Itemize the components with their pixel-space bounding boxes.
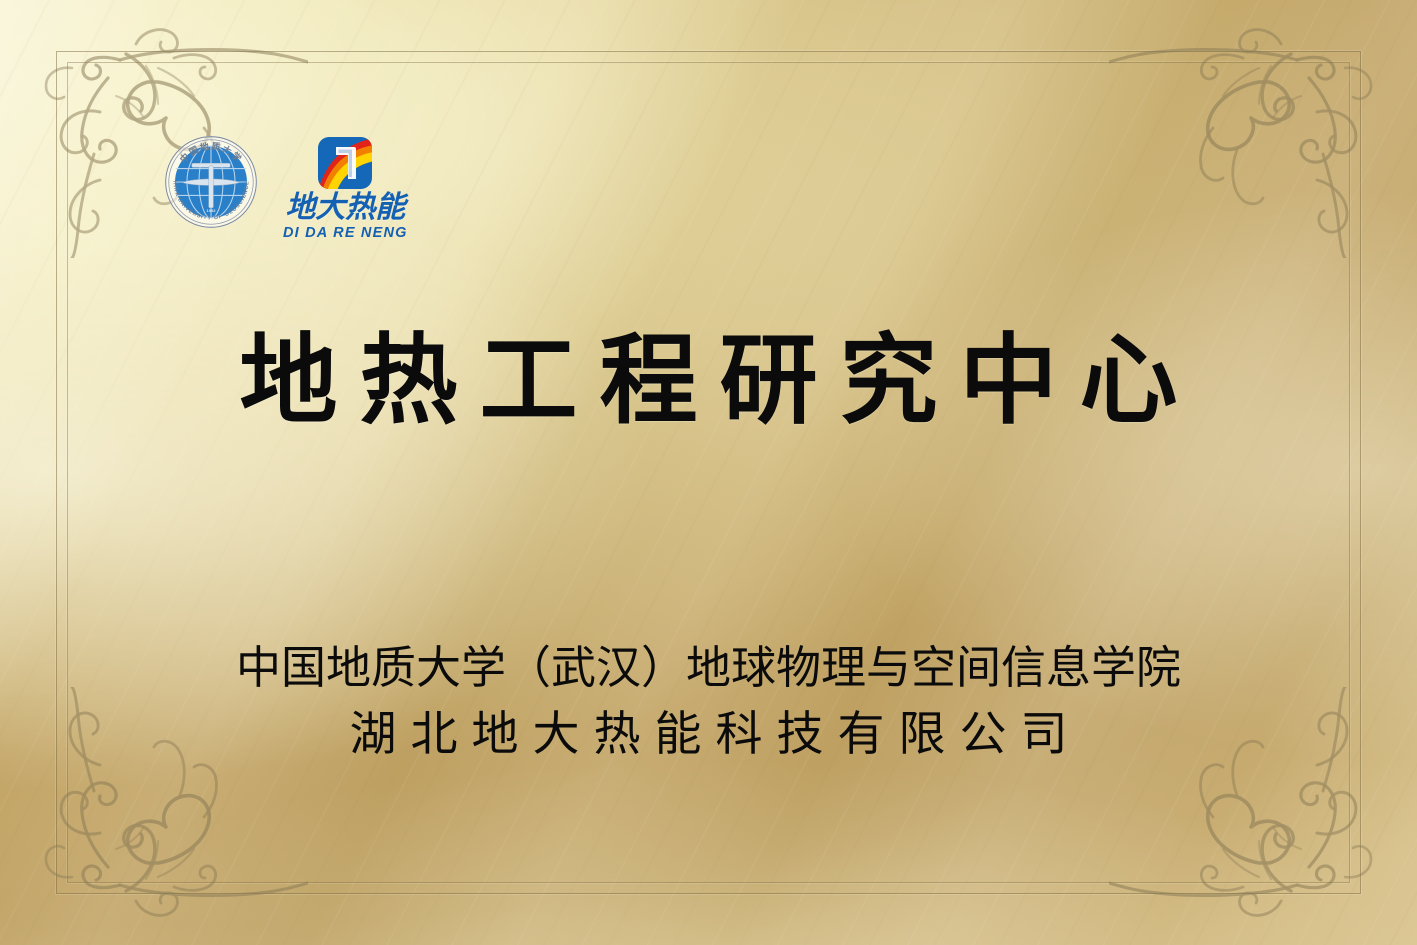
organization-block: 中国地质大学（武汉）地球物理与空间信息学院 湖北地大热能科技有限公司 xyxy=(0,636,1417,769)
organization-line-university: 中国地质大学（武汉）地球物理与空间信息学院 xyxy=(0,636,1417,700)
company-name-en: DI DA RE NENG xyxy=(283,225,408,241)
company-brand: 地大热能 DI DA RE NENG xyxy=(283,136,408,241)
plaque-board: 中国地质大学 CHINA UNIVERSITY OF GEOSCIENCES 1… xyxy=(0,0,1417,945)
page-title: 地热工程研究中心 xyxy=(0,330,1417,433)
logo-row: 中国地质大学 CHINA UNIVERSITY OF GEOSCIENCES 1… xyxy=(163,134,408,241)
university-seal-icon: 中国地质大学 CHINA UNIVERSITY OF GEOSCIENCES 1… xyxy=(163,134,259,230)
didareneng-logo-icon xyxy=(316,136,374,192)
company-name-cn: 地大热能 xyxy=(285,193,405,223)
organization-line-company: 湖北地大热能科技有限公司 xyxy=(0,702,1417,769)
svg-text:1952: 1952 xyxy=(207,208,217,213)
